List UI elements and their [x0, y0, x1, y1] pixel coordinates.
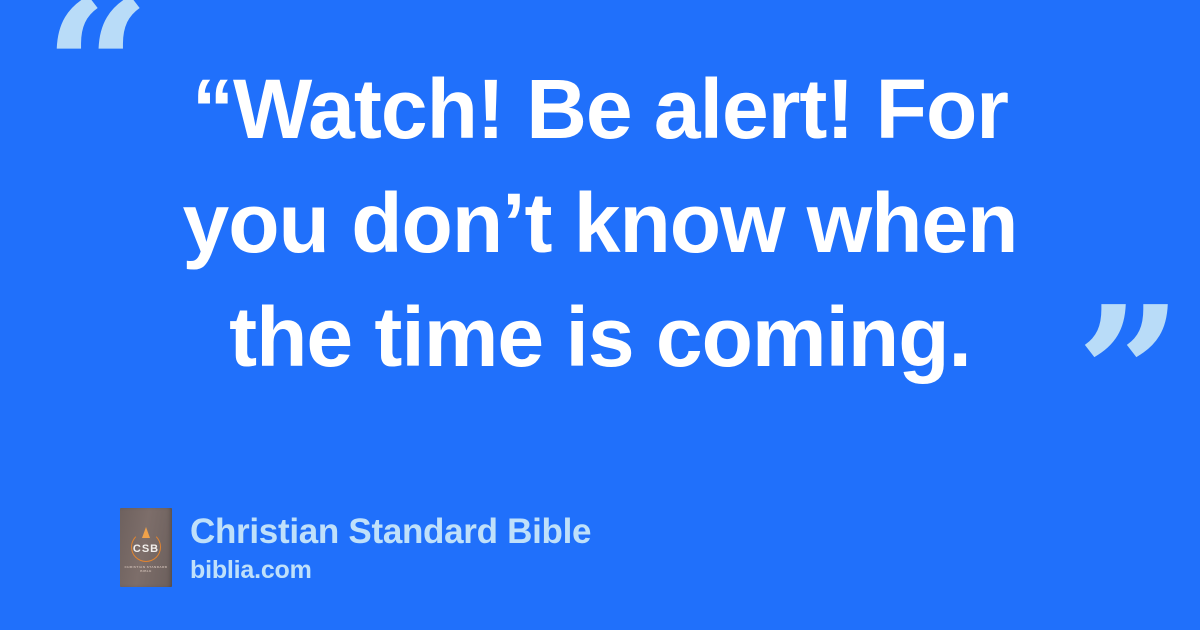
quote-line: the time is coming.	[110, 280, 1090, 394]
quote-card: “ “Watch! Be alert! For you don’t know w…	[0, 0, 1200, 630]
book-cover-subtitle: CHRISTIAN STANDARD BIBLE	[120, 565, 172, 572]
source-name: Christian Standard Bible	[190, 511, 591, 553]
attribution: CSB CHRISTIAN STANDARD BIBLE Christian S…	[120, 508, 591, 587]
decorative-close-quote-icon: ”	[1076, 282, 1178, 467]
book-cover-flame-icon	[142, 527, 150, 538]
source-site-link[interactable]: biblia.com	[190, 555, 591, 585]
quote-line: you don’t know when	[110, 166, 1090, 280]
book-cover-initials: CSB	[120, 543, 172, 555]
book-cover-thumbnail-icon: CSB CHRISTIAN STANDARD BIBLE	[120, 508, 172, 587]
quote-block: “Watch! Be alert! For you don’t know whe…	[0, 52, 1200, 394]
quote-line: “Watch! Be alert! For	[110, 52, 1090, 166]
attribution-text: Christian Standard Bible biblia.com	[190, 511, 591, 585]
